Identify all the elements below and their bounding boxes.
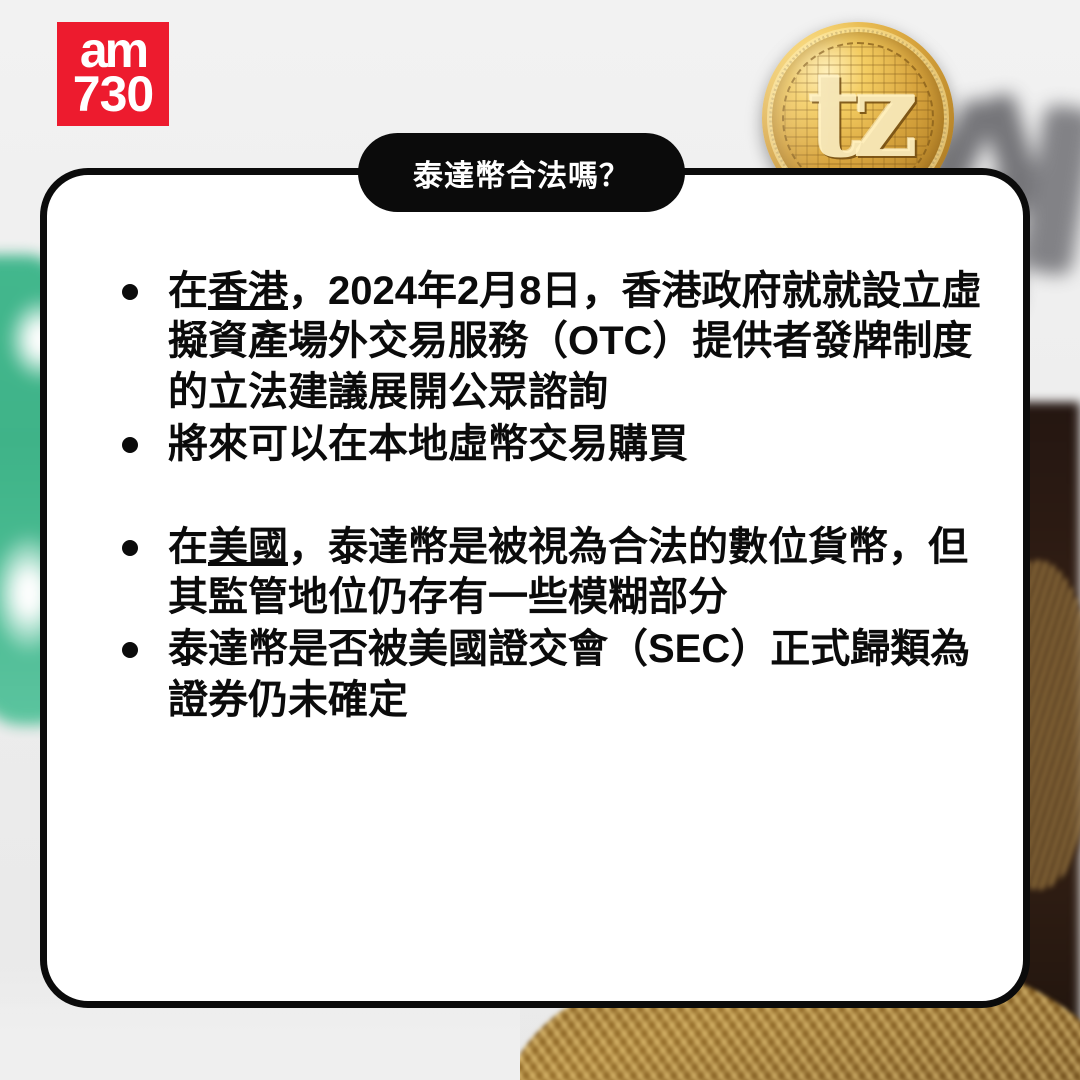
bullet-dot-icon xyxy=(122,642,138,658)
card-title-pill: 泰達幣合法嗎？ xyxy=(358,133,685,212)
list-item: 泰達幣是否被美國證交會（SEC）正式歸類為證券仍未確定 xyxy=(122,624,982,725)
am730-logo: am 730 xyxy=(57,22,169,126)
bullet-text-4: 泰達幣是否被美國證交會（SEC）正式歸類為證券仍未確定 xyxy=(168,624,982,725)
bullet-text-1: 在香港，2024年2月8日，香港政府就就設立虛擬資產場外交易服務（OTC）提供者… xyxy=(168,266,982,417)
bullet-dot-icon xyxy=(122,284,138,300)
logo-line-1: am xyxy=(80,30,146,71)
bullet-text-3: 在美國，泰達幣是被視為合法的數位貨幣，但其監管地位仍存有一些模糊部分 xyxy=(168,522,982,623)
card-title: 泰達幣合法嗎？ xyxy=(413,151,630,195)
bullet-text-2: 將來可以在本地虛幣交易購買 xyxy=(168,419,982,469)
slide-canvas: tz am 730 泰達幣合法嗎？ 在香港，2024年2月8日，香港政府就就設立… xyxy=(0,0,1080,1080)
bullet-dot-icon xyxy=(122,437,138,453)
bullet-list: 在香港，2024年2月8日，香港政府就就設立虛擬資產場外交易服務（OTC）提供者… xyxy=(122,266,982,727)
logo-line-2: 730 xyxy=(73,71,153,117)
bullet-dot-icon xyxy=(122,540,138,556)
list-item: 在香港，2024年2月8日，香港政府就就設立虛擬資產場外交易服務（OTC）提供者… xyxy=(122,266,982,417)
list-item: 在美國，泰達幣是被視為合法的數位貨幣，但其監管地位仍存有一些模糊部分 xyxy=(122,522,982,623)
list-item: 將來可以在本地虛幣交易購買 xyxy=(122,419,982,469)
